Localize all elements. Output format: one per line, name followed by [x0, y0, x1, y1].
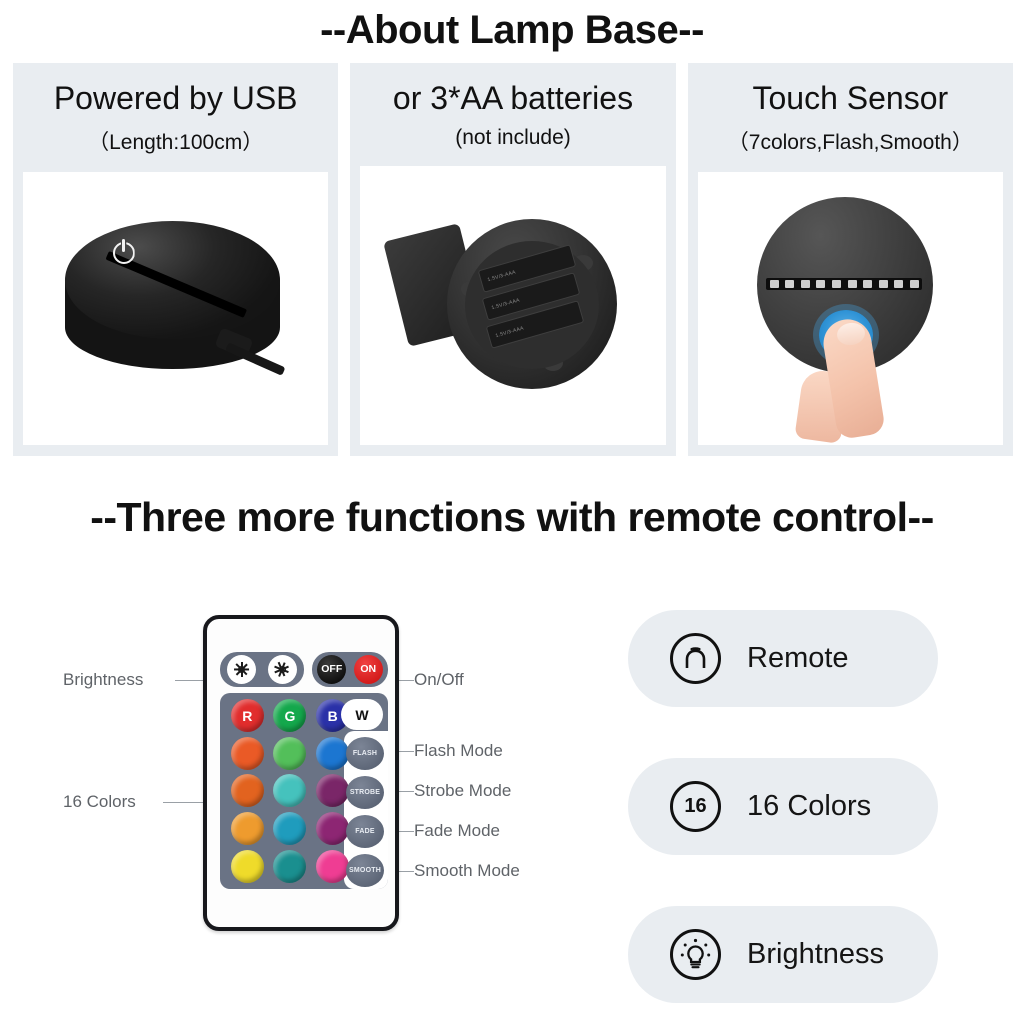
mode-button-column: FLASH STROBE FADE SMOOTH — [346, 737, 384, 887]
feature-pill-brightness: Brightness — [628, 906, 938, 1003]
color-button[interactable] — [273, 737, 306, 770]
color-button-green[interactable]: G — [273, 699, 306, 732]
color-button-white[interactable]: W — [341, 699, 383, 730]
brightness-button-group — [220, 652, 304, 687]
brightness-down-icon — [275, 662, 290, 677]
brightness-up-button[interactable] — [227, 655, 256, 684]
battery-slot-label: 1.5V/3-AAA — [491, 297, 521, 311]
feature-pill-label: Brightness — [747, 938, 884, 971]
panel-title: Powered by USB — [54, 81, 298, 117]
power-symbol-bar-icon — [122, 239, 125, 252]
panel-photo-battery-base: 1.5V/3-AAA 1.5V/3-AAA 1.5V/3-AAA — [360, 166, 665, 445]
brightness-bulb-icon — [670, 929, 721, 980]
touch-sensor-illustration — [725, 193, 975, 423]
color-button[interactable] — [231, 850, 264, 883]
color-button[interactable] — [231, 812, 264, 845]
color-button[interactable] — [316, 774, 349, 807]
color-button[interactable] — [273, 850, 306, 883]
infographic-page: --About Lamp Base-- Powered by USB （Leng… — [0, 0, 1024, 1024]
color-button-red[interactable]: R — [231, 699, 264, 732]
leader-line — [398, 680, 414, 681]
lamp-base-usb-illustration — [51, 213, 301, 403]
callout-smooth-mode: Smooth Mode — [414, 861, 520, 881]
battery-slot-label: 1.5V/3-AAA — [487, 269, 517, 283]
panel-subtitle: (not include) — [455, 126, 571, 150]
callout-on-off: On/Off — [414, 670, 464, 690]
callout-16-colors: 16 Colors — [63, 792, 136, 812]
panel-photo-touch-sensor — [698, 172, 1003, 445]
callout-brightness: Brightness — [63, 670, 143, 690]
feature-pill-remote: Remote — [628, 610, 938, 707]
panel-subtitle: （Length:100cm） — [88, 126, 263, 156]
off-button[interactable]: OFF — [317, 655, 346, 684]
color-button-grid: R G B — [227, 698, 353, 884]
feature-pill-label: 16 Colors — [747, 790, 871, 823]
color-button[interactable] — [273, 774, 306, 807]
panel-aa-batteries: or 3*AA batteries (not include) 1.5V/3-A… — [350, 63, 675, 456]
smooth-mode-button[interactable]: SMOOTH — [346, 854, 384, 887]
panel-title: or 3*AA batteries — [393, 81, 633, 117]
led-strip — [766, 278, 922, 290]
remote-control-section: Brightness 16 Colors On/Off Flash Mode S… — [0, 560, 1024, 990]
color-button[interactable] — [273, 812, 306, 845]
color-button[interactable] — [316, 850, 349, 883]
callout-flash-mode: Flash Mode — [414, 741, 503, 761]
color-button[interactable] — [316, 737, 349, 770]
brightness-up-icon — [234, 662, 249, 677]
callout-strobe-mode: Strobe Mode — [414, 781, 511, 801]
sixteen-circle-icon: 16 — [670, 781, 721, 832]
remote-top-row: OFF ON — [220, 652, 388, 687]
feature-pill-16-colors: 16 16 Colors — [628, 758, 938, 855]
power-button-group: OFF ON — [312, 652, 388, 687]
remote-signal-icon — [670, 633, 721, 684]
feature-pill-list: Remote 16 16 Colors — [628, 610, 938, 1024]
callout-fade-mode: Fade Mode — [414, 821, 500, 841]
feature-pill-label: Remote — [747, 642, 849, 675]
page-title-lamp-base: --About Lamp Base-- — [0, 8, 1024, 53]
color-button[interactable] — [231, 737, 264, 770]
flash-mode-button[interactable]: FLASH — [346, 737, 384, 770]
panel-subtitle: （7colors,Flash,Smooth） — [728, 126, 973, 156]
remote-keypad: R G B W — [220, 693, 388, 889]
battery-compartment-illustration: 1.5V/3-AAA 1.5V/3-AAA 1.5V/3-AAA — [383, 205, 643, 405]
color-button[interactable] — [316, 812, 349, 845]
battery-slot-label: 1.5V/3-AAA — [495, 325, 525, 339]
page-title-remote-functions: --Three more functions with remote contr… — [0, 494, 1024, 541]
panel-touch-sensor: Touch Sensor （7colors,Flash,Smooth） — [688, 63, 1013, 456]
fade-mode-button[interactable]: FADE — [346, 815, 384, 848]
color-button[interactable] — [231, 774, 264, 807]
on-button[interactable]: ON — [354, 655, 383, 684]
sixteen-badge-text: 16 — [670, 781, 721, 832]
panel-powered-by-usb: Powered by USB （Length:100cm） — [13, 63, 338, 456]
panel-photo-usb-base — [23, 172, 328, 445]
lamp-base-panel-group: Powered by USB （Length:100cm） or 3*AA ba… — [13, 63, 1013, 456]
remote-control[interactable]: OFF ON R G B — [203, 615, 399, 931]
panel-title: Touch Sensor — [752, 81, 948, 117]
strobe-mode-button[interactable]: STROBE — [346, 776, 384, 809]
brightness-down-button[interactable] — [268, 655, 297, 684]
